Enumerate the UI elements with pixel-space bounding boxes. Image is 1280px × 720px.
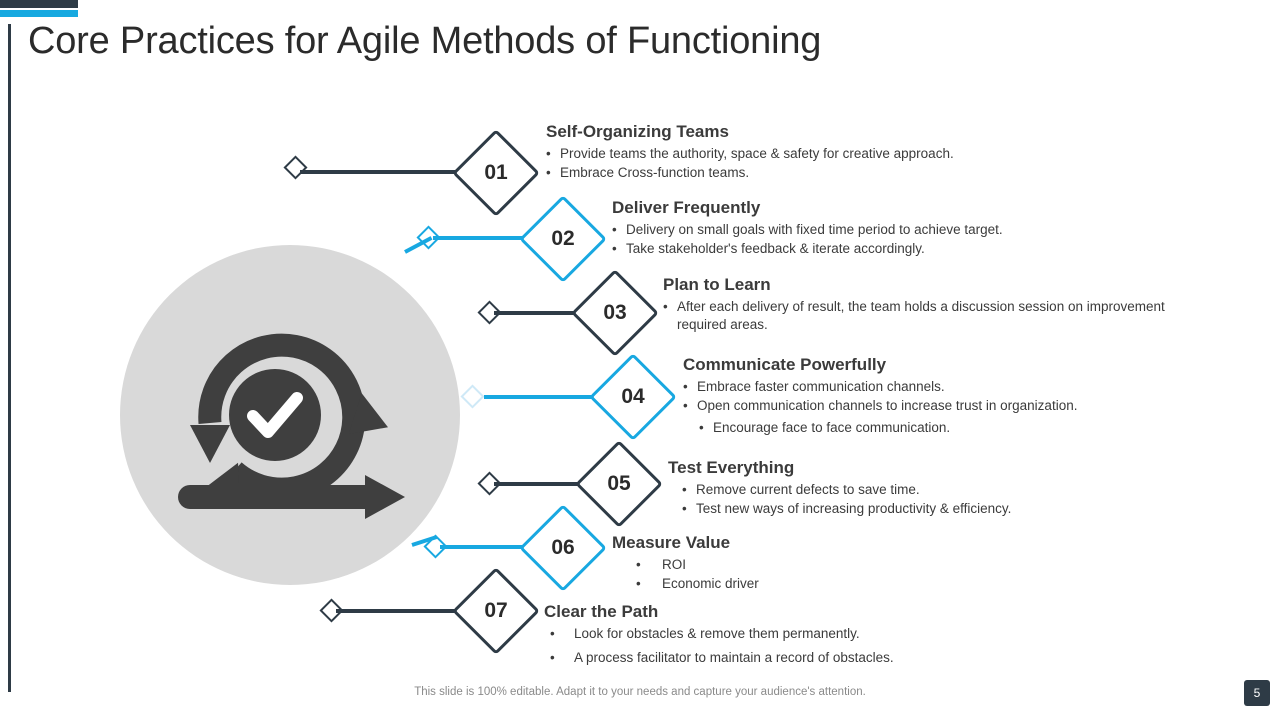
- page-number-badge: 5: [1244, 680, 1270, 706]
- left-vertical-rule: [8, 24, 11, 692]
- bullet-dot-icon: •: [683, 397, 697, 415]
- step-6-heading: Measure Value: [612, 533, 1132, 553]
- bullet-dot-icon: •: [636, 575, 650, 593]
- step-5-number: 05: [588, 453, 650, 515]
- step-6-bullet-1: •ROI: [636, 556, 1132, 574]
- step-4-marker: [460, 384, 484, 408]
- step-2-text: Deliver Frequently •Delivery on small go…: [612, 198, 1252, 259]
- step-5-bullet-2: •Test new ways of increasing productivit…: [682, 500, 1188, 518]
- step-5-heading: Test Everything: [668, 458, 1188, 478]
- corner-mark-blue: [0, 10, 78, 17]
- step-6-bullet-2: •Economic driver: [636, 575, 1132, 593]
- step-1-connector: [300, 170, 465, 174]
- step-1-bullet-2: •Embrace Cross-function teams.: [546, 164, 1186, 182]
- bullet-dot-icon: •: [699, 419, 713, 437]
- step-5-connector: [494, 482, 588, 486]
- step-4-number: 04: [602, 366, 664, 428]
- page-title: Core Practices for Agile Methods of Func…: [28, 20, 821, 63]
- step-2-heading: Deliver Frequently: [612, 198, 1252, 218]
- step-4-bullet-1: •Embrace faster communication channels.: [683, 378, 1203, 396]
- footer-note: This slide is 100% editable. Adapt it to…: [0, 686, 1280, 698]
- step-4-bullet-3: •Encourage face to face communication.: [699, 419, 1203, 437]
- bullet-dot-icon: •: [550, 649, 564, 667]
- step-2-connector: [433, 236, 533, 240]
- step-3-connector: [494, 311, 584, 315]
- step-2-bullet-1: •Delivery on small goals with fixed time…: [612, 221, 1252, 239]
- step-2-bullet-2: •Take stakeholder's feedback & iterate a…: [612, 240, 1252, 258]
- bullet-dot-icon: •: [612, 240, 626, 258]
- step-7-bullet-1: •Look for obstacles & remove them perman…: [550, 625, 1064, 643]
- bullet-dot-icon: •: [682, 481, 696, 499]
- step-3-heading: Plan to Learn: [663, 275, 1183, 295]
- bullet-dot-icon: •: [683, 378, 697, 396]
- step-1-bullet-1: •Provide teams the authority, space & sa…: [546, 145, 1186, 163]
- bullet-dot-icon: •: [546, 145, 560, 163]
- step-4-text: Communicate Powerfully •Embrace faster c…: [683, 355, 1203, 438]
- bullet-dot-icon: •: [550, 625, 564, 643]
- step-6-number: 06: [532, 517, 594, 579]
- bullet-dot-icon: •: [682, 500, 696, 518]
- step-6-connector: [440, 545, 532, 549]
- step-4-heading: Communicate Powerfully: [683, 355, 1203, 375]
- step-7-number: 07: [465, 580, 527, 642]
- bullet-dot-icon: •: [612, 221, 626, 239]
- step-5-text: Test Everything •Remove current defects …: [668, 458, 1188, 519]
- step-2-number: 02: [532, 208, 594, 270]
- bullet-dot-icon: •: [663, 298, 677, 334]
- step-5-bullet-1: •Remove current defects to save time.: [682, 481, 1188, 499]
- agile-cycle-check-icon: [150, 275, 440, 555]
- step-4-connector: [484, 395, 604, 399]
- step-1-text: Self-Organizing Teams •Provide teams the…: [546, 122, 1186, 183]
- step-1-marker: [283, 155, 307, 179]
- step-7-text: Clear the Path •Look for obstacles & rem…: [544, 602, 1064, 668]
- step-7-bullet-2: •A process facilitator to maintain a rec…: [550, 649, 1064, 667]
- corner-mark-dark: [0, 0, 78, 8]
- step-6-text: Measure Value •ROI •Economic driver: [612, 533, 1132, 594]
- step-7-heading: Clear the Path: [544, 602, 1064, 622]
- bullet-dot-icon: •: [636, 556, 650, 574]
- step-3-number: 03: [584, 282, 646, 344]
- bullet-dot-icon: •: [546, 164, 560, 182]
- step-1-number: 01: [465, 142, 527, 204]
- step-3-text: Plan to Learn •After each delivery of re…: [663, 275, 1183, 335]
- step-7-connector: [336, 609, 466, 613]
- step-3-bullet-1: •After each delivery of result, the team…: [663, 298, 1183, 334]
- step-4-bullet-2: •Open communication channels to increase…: [683, 397, 1203, 415]
- step-1-heading: Self-Organizing Teams: [546, 122, 1186, 142]
